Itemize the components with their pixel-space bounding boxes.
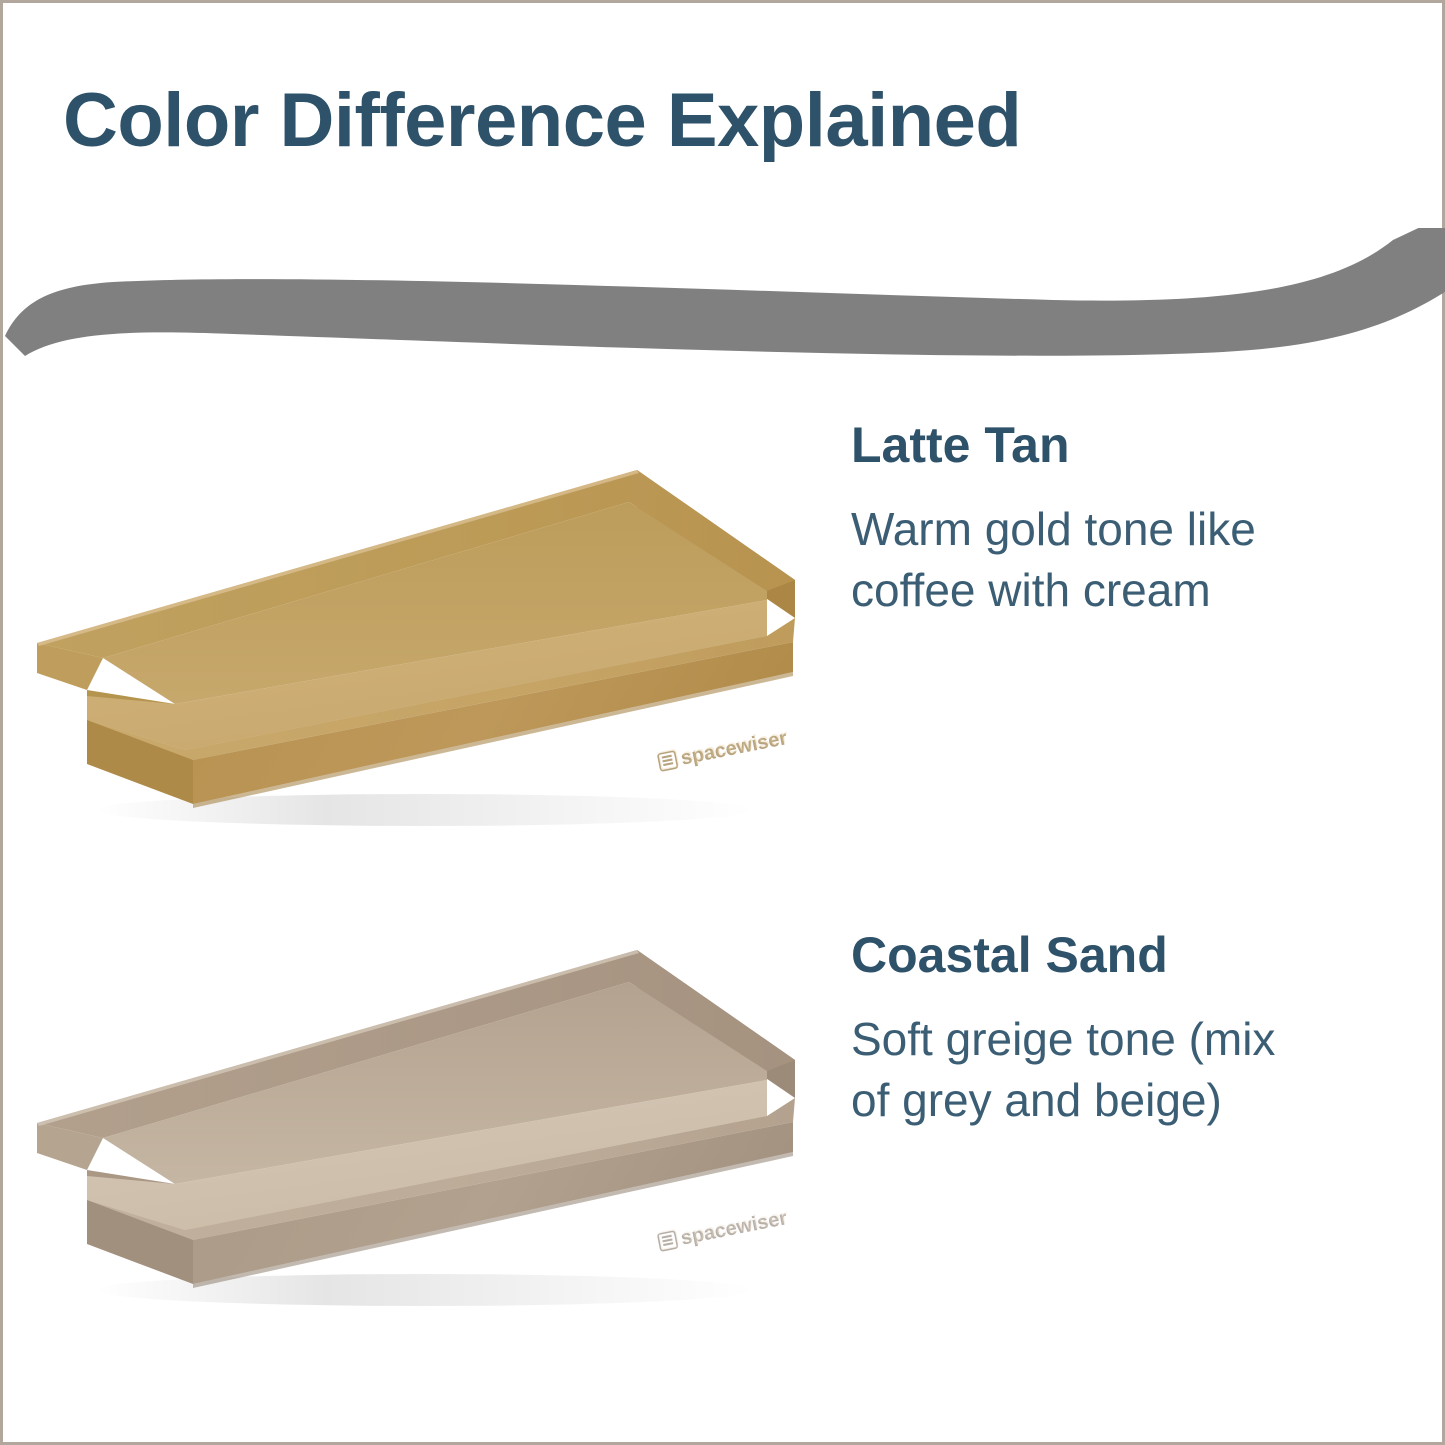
swatch-description-latte-tan: Warm gold tone like coffee with cream: [851, 499, 1311, 621]
swatch-name-latte-tan: Latte Tan: [851, 418, 1321, 473]
swatch-description-coastal-sand: Soft greige tone (mix of grey and beige): [851, 1009, 1311, 1131]
infographic-page: Color Difference Explained: [0, 0, 1445, 1445]
svg-text:spacewiser: spacewiser: [680, 1205, 790, 1248]
page-title: Color Difference Explained: [63, 81, 1021, 161]
swatch-name-coastal-sand: Coastal Sand: [851, 928, 1321, 983]
swatch-info-latte-tan: Latte Tan Warm gold tone like coffee wit…: [851, 418, 1321, 621]
product-image-latte-tan: spacewiser spacewiser: [25, 458, 825, 858]
product-image-coastal-sand: spacewiser spacewiser: [25, 938, 825, 1338]
swatch-info-coastal-sand: Coastal Sand Soft greige tone (mix of gr…: [851, 928, 1321, 1131]
svg-text:spacewiser: spacewiser: [680, 725, 790, 768]
swoosh-divider: [3, 228, 1445, 368]
